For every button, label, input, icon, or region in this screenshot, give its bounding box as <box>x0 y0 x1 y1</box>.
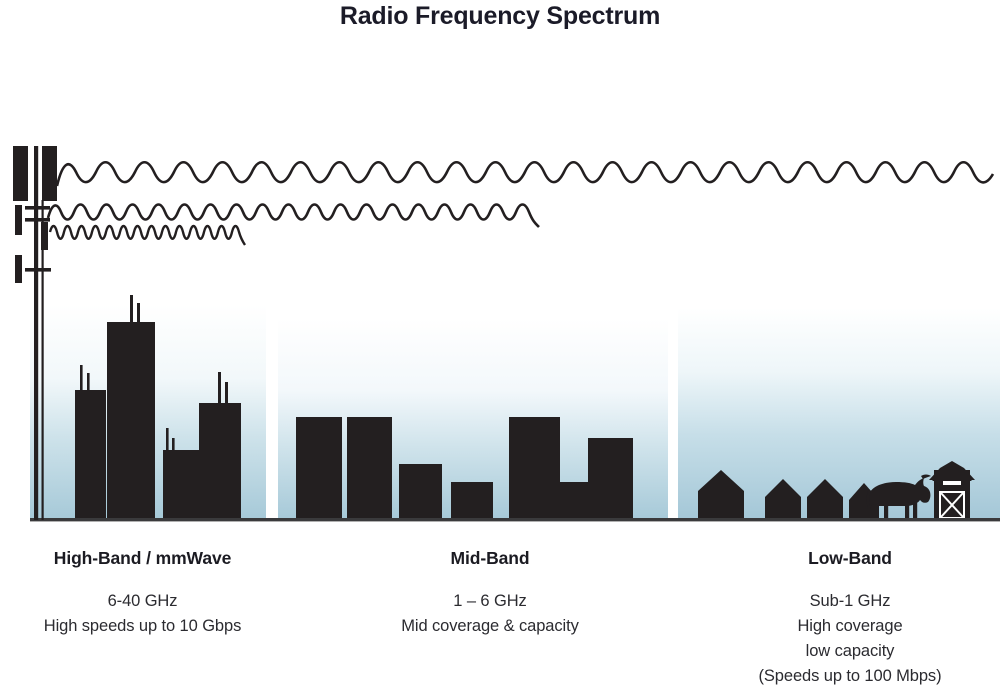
antenna-crossbar-1 <box>25 206 50 210</box>
antenna-panel-left <box>13 146 28 201</box>
band-detail-low-3: (Speeds up to 100 Mbps) <box>700 664 1000 689</box>
band-label-mid: Mid-Band <box>340 548 640 569</box>
ground-line <box>30 518 1000 521</box>
band-label-high: High-Band / mmWave <box>0 548 285 569</box>
high-band-wave <box>50 226 245 245</box>
caption-column-low: Low-Band Sub-1 GHz High coverage low cap… <box>700 548 1000 689</box>
band-detail-high-0: 6-40 GHz <box>0 589 285 614</box>
band-detail-mid-1: Mid coverage & capacity <box>340 614 640 639</box>
antenna-panel-small-1 <box>15 205 22 235</box>
antenna-crossbar-2 <box>25 218 50 222</box>
band-label-low: Low-Band <box>700 548 1000 569</box>
band-detail-low-2: low capacity <box>700 639 1000 664</box>
antenna-panel-small-2 <box>41 222 48 250</box>
band-detail-low-1: High coverage <box>700 614 1000 639</box>
antenna-crossbar-3 <box>25 268 51 272</box>
low-band-wave <box>57 162 993 186</box>
band-detail-low-0: Sub-1 GHz <box>700 589 1000 614</box>
band-detail-mid-0: 1 – 6 GHz <box>340 589 640 614</box>
antenna-panel-right <box>42 146 57 201</box>
tower-mast-left <box>34 146 38 520</box>
infographic-stage: Radio Frequency Spectrum <box>0 0 1000 700</box>
caption-column-high: High-Band / mmWave 6-40 GHz High speeds … <box>0 548 285 639</box>
antenna-panel-small-3 <box>15 255 22 283</box>
band-detail-high-1: High speeds up to 10 Gbps <box>0 614 285 639</box>
mid-band-wave <box>48 205 539 228</box>
caption-column-mid: Mid-Band 1 – 6 GHz Mid coverage & capaci… <box>340 548 640 639</box>
